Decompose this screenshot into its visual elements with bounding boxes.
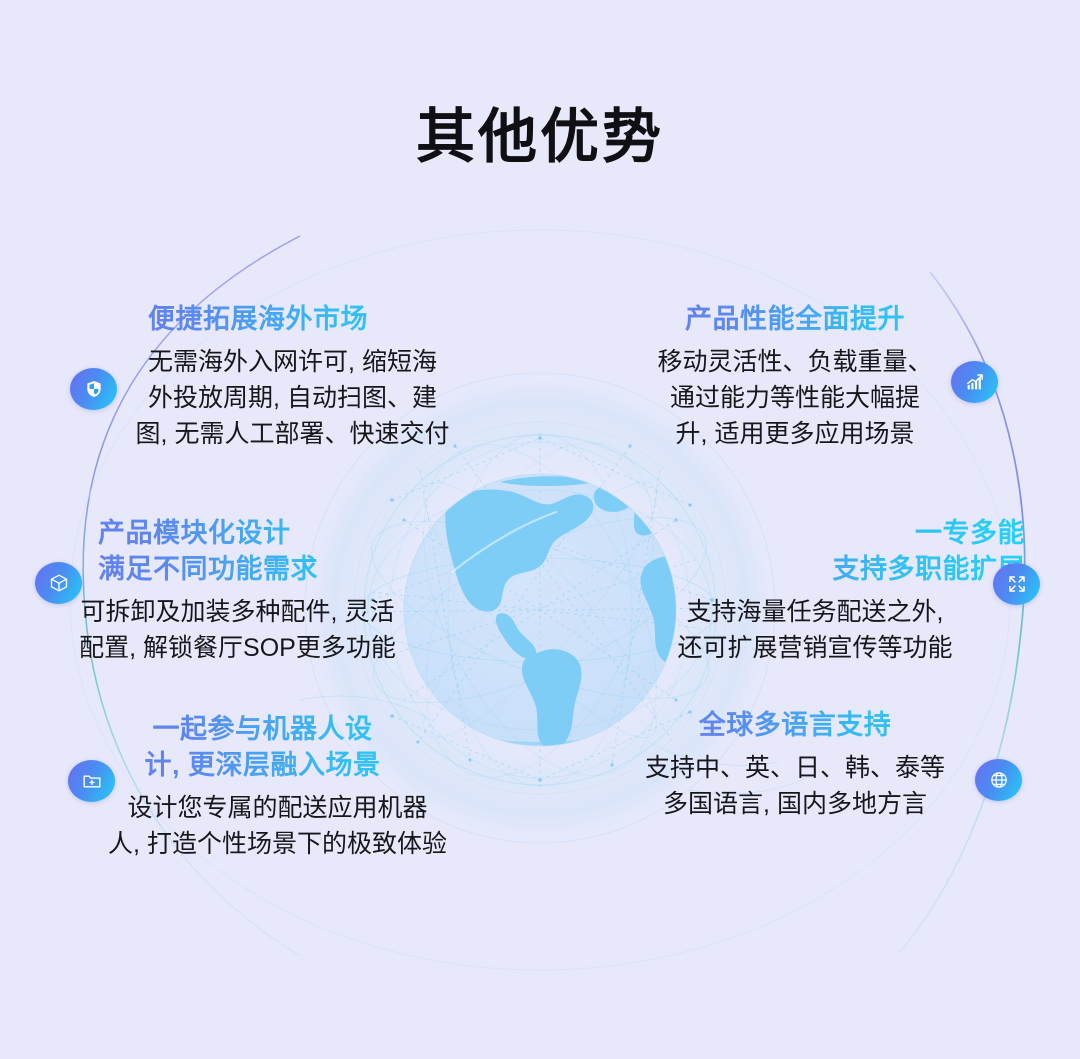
feature-performance-title: 产品性能全面提升 — [585, 302, 1005, 338]
expand-arrows-icon — [1007, 574, 1027, 594]
feature-language: 全球多语言支持 支持中、英、日、韩、泰等 多国语言, 国内多地方言 — [585, 708, 1005, 822]
shield-icon — [84, 379, 104, 399]
folder-plus-icon — [82, 771, 102, 791]
page-title: 其他优势 — [0, 105, 1080, 170]
feature-multifunction: 一专多能 支持多职能扩展 支持海量任务配送之外, 还可扩展营销宣传等功能 — [605, 516, 1025, 666]
globe-network-icon — [989, 770, 1009, 790]
feature-modular-body: 可拆卸及加装多种配件, 灵活 配置, 解锁餐厅SOP更多功能 — [10, 594, 455, 667]
feature-language-title: 全球多语言支持 — [585, 708, 1005, 744]
feature-performance: 产品性能全面提升 移动灵活性、负载重量、 通过能力等性能大幅提 升, 适用更多应… — [585, 302, 1005, 453]
feature-performance-body: 移动灵活性、负载重量、 通过能力等性能大幅提 升, 适用更多应用场景 — [585, 344, 1005, 453]
globe-network-icon-badge — [975, 759, 1022, 801]
feature-overseas-title: 便捷拓展海外市场 — [40, 302, 485, 338]
growth-chart-icon-badge — [951, 361, 998, 403]
growth-chart-icon — [965, 372, 985, 392]
feature-language-body: 支持中、英、日、韩、泰等 多国语言, 国内多地方言 — [585, 750, 1005, 823]
expand-arrows-icon-badge — [993, 563, 1040, 605]
shield-icon-badge — [70, 368, 117, 410]
feature-multifunction-body: 支持海量任务配送之外, 还可扩展营销宣传等功能 — [605, 594, 1025, 667]
advantages-infographic: 其他优势 便捷拓展海外市场 无需海外入网许可, 缩短海 外投放周期, 自动扫图、… — [0, 0, 1080, 1059]
feature-multifunction-title: 一专多能 支持多职能扩展 — [605, 516, 1025, 588]
cube-icon — [49, 573, 69, 593]
cube-icon-badge — [35, 562, 82, 604]
folder-plus-icon-badge — [68, 760, 115, 802]
feature-codesign-body: 设计您专属的配送应用机器 人, 打造个性场景下的极致体验 — [40, 790, 485, 863]
